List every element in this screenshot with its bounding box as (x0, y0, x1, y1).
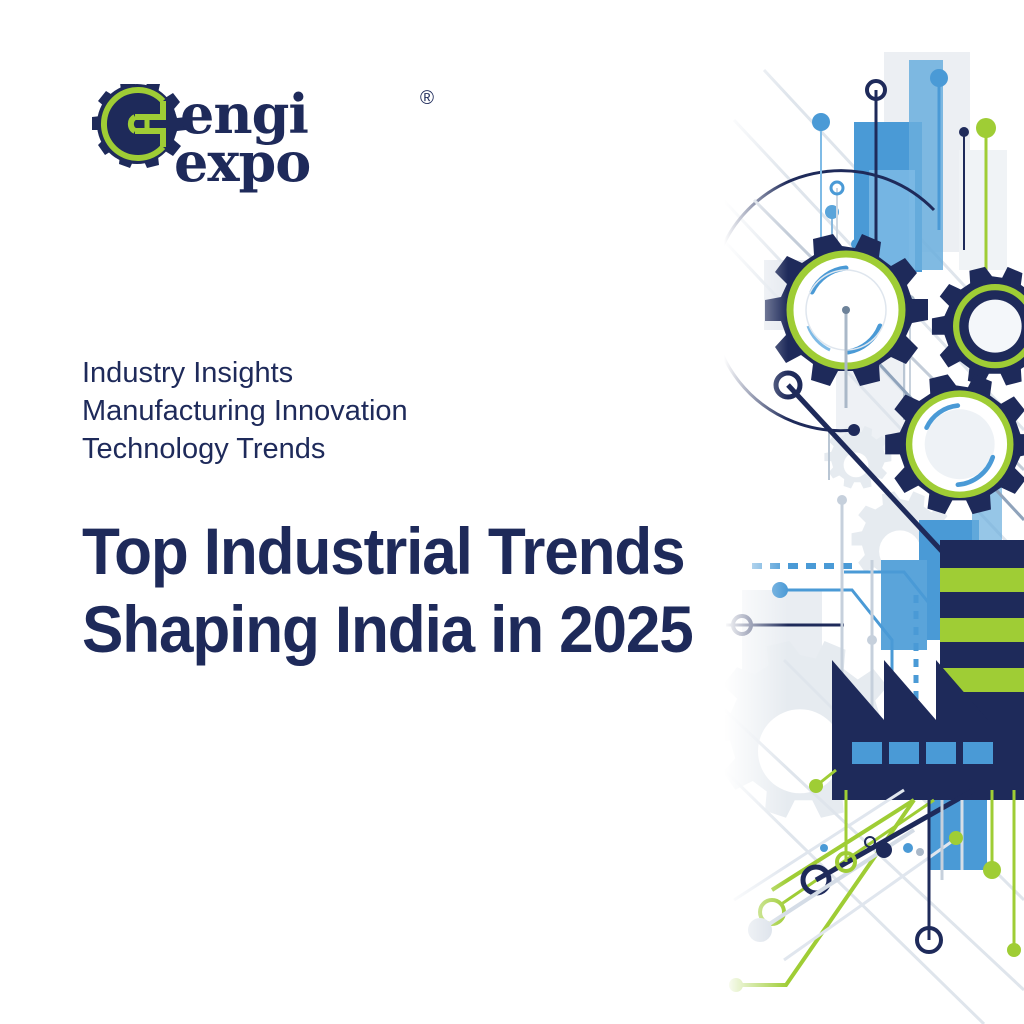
subtitle-block: Industry Insights Manufacturing Innovati… (82, 354, 702, 468)
brand-logo[interactable]: engi expo ® (82, 80, 382, 198)
logo-wordmark: engi expo ® (174, 84, 454, 196)
gear-medium-right (932, 267, 1024, 386)
registered-trademark-icon: ® (420, 88, 434, 110)
page-title: Top Industrial Trends Shaping India in 2… (82, 512, 822, 668)
subtitle-line-1: Industry Insights (82, 354, 702, 392)
headline-line-1: Top Industrial Trends (82, 512, 778, 590)
subtitle-line-2: Manufacturing Innovation (82, 392, 702, 430)
headline-line-2: Shaping India in 2025 (82, 590, 778, 668)
gear-lower (885, 374, 1024, 514)
subtitle-line-3: Technology Trends (82, 430, 702, 468)
poster-canvas: engi expo ® Industry Insights Manufactur… (0, 0, 1024, 1024)
logo-word-expo: expo (174, 136, 310, 188)
arc-end-dot (848, 424, 860, 436)
